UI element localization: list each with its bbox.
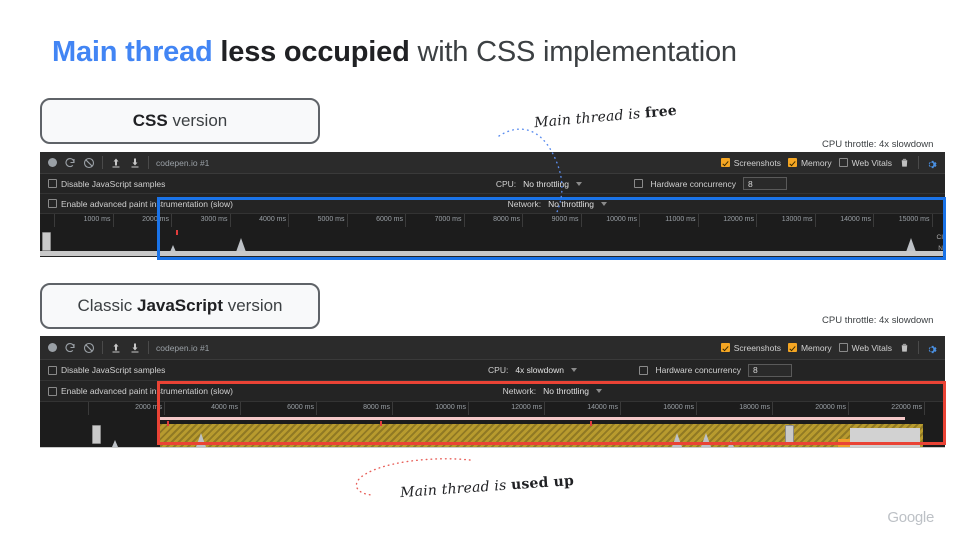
checkbox-screenshots-js[interactable]: Screenshots <box>721 343 781 353</box>
cpu-label-js: CPU: <box>488 365 508 375</box>
timeline-tick-label: 15000 ms <box>899 216 930 223</box>
reload-icon[interactable] <box>64 157 76 169</box>
checkbox-memory-css[interactable]: Memory <box>788 158 832 168</box>
checkbox-disable-js-samples-box[interactable] <box>48 366 57 375</box>
activity-spike <box>906 238 916 252</box>
checkbox-memory-box[interactable] <box>788 158 797 167</box>
devtools-settings-row-1-css: Disable JavaScript samples CPU: No throt… <box>40 174 945 194</box>
cpu-throttle-select-js[interactable]: 4x slowdown <box>515 365 564 375</box>
devtools-settings-row-2-js: Enable advanced paint instrumentation (s… <box>40 381 945 402</box>
checkbox-screenshots-box[interactable] <box>721 343 730 352</box>
checkbox-web-vitals-box[interactable] <box>839 158 848 167</box>
timeline-tick-label: 20000 ms <box>815 404 846 411</box>
clear-icon[interactable] <box>83 342 95 354</box>
activity-spike <box>672 433 682 447</box>
devtools-settings-row-1-js: Disable JavaScript samples CPU: 4x slowd… <box>40 360 945 381</box>
hardware-concurrency-label-js: Hardware concurrency <box>655 365 741 375</box>
chip-js-prefix: Classic <box>77 296 137 315</box>
annotation-text-free: Main thread is free <box>534 103 678 131</box>
timeline-tick-label: 11000 ms <box>665 216 695 223</box>
timeline-tick: 16000 ms <box>620 402 697 415</box>
timeline-overview-js[interactable]: 2000 ms4000 ms6000 ms8000 ms10000 ms1200… <box>40 402 945 448</box>
timeline-range-handle-left[interactable] <box>42 232 51 251</box>
timeline-tick-label: 9000 ms <box>552 216 579 223</box>
chevron-down-icon[interactable] <box>571 368 577 372</box>
timeline-tick: 13000 ms <box>756 214 816 227</box>
timeline-tick: 16 <box>932 214 946 227</box>
label-chip-js-version: Classic JavaScript version <box>40 283 320 329</box>
timeline-marker <box>167 421 169 426</box>
timeline-activity-js <box>40 417 945 448</box>
activity-spike <box>196 433 206 447</box>
timeline-tick: 14000 ms <box>815 214 875 227</box>
checkbox-screenshots-box[interactable] <box>721 158 730 167</box>
chevron-down-icon[interactable] <box>576 182 582 186</box>
cpu-throttle-note-js: CPU throttle: 4x slowdown <box>822 315 933 326</box>
devtools-toolbar-js: codepen.io #1 Screenshots Memory Web Vit… <box>40 336 945 360</box>
annotation-used-plain: Main thread is <box>400 477 512 501</box>
checkbox-hardware-concurrency-box-css[interactable] <box>634 179 643 188</box>
timeline-tick: 6000 ms <box>240 402 317 415</box>
devtools-toolbar-css: codepen.io #1 Screenshots Memory Web Vit… <box>40 152 945 174</box>
toolbar-divider <box>148 156 149 169</box>
timeline-tick: 4000 ms <box>164 402 241 415</box>
timeline-tick-label: 22000 ms <box>891 404 922 411</box>
checkbox-memory-label: Memory <box>801 158 832 168</box>
devtools-settings-row-2-css: Enable advanced paint instrumentation (s… <box>40 194 945 214</box>
checkbox-web-vitals-css[interactable]: Web Vitals <box>839 158 892 168</box>
chip-css-rest: version <box>168 111 228 130</box>
chevron-down-icon[interactable] <box>596 389 602 393</box>
timeline-tick-label: 6000 ms <box>376 216 403 223</box>
label-chip-css-version: CSS version <box>40 98 320 144</box>
timeline-scrollbar-js[interactable] <box>40 447 945 448</box>
timeline-tick: 20000 ms <box>772 402 849 415</box>
hardware-concurrency-input-js[interactable]: 8 <box>748 364 792 377</box>
cpu-edge-label: CI <box>937 234 944 241</box>
timeline-tick-label: 10000 ms <box>606 216 637 223</box>
annotation-free-plain: Main thread is <box>534 106 646 132</box>
network-request-band <box>160 417 905 420</box>
timeline-tick-label: 10000 ms <box>435 404 466 411</box>
timeline-tick: 7000 ms <box>405 214 465 227</box>
activity-block-grey <box>850 428 920 447</box>
cpu-label-css: CPU: <box>496 179 516 189</box>
timeline-tick: 2 <box>924 402 945 415</box>
cpu-throttle-select-css[interactable]: No throttling <box>523 179 569 189</box>
timeline-tick-label: 8000 ms <box>493 216 520 223</box>
hardware-concurrency-label-css: Hardware concurrency <box>650 179 736 189</box>
checkbox-disable-js-samples-css[interactable]: Disable JavaScript samples <box>48 179 165 189</box>
timeline-tick: 8000 ms <box>316 402 393 415</box>
timeline-tick-label: 6000 ms <box>287 404 314 411</box>
checkbox-advanced-paint-css[interactable]: Enable advanced paint instrumentation (s… <box>48 199 233 209</box>
record-icon[interactable] <box>48 343 57 352</box>
timeline-tick: 5000 ms <box>288 214 348 227</box>
chip-js-bold: JavaScript <box>137 296 223 315</box>
trash-icon[interactable] <box>899 157 911 169</box>
upload-icon[interactable] <box>110 157 122 169</box>
activity-spike <box>236 238 246 252</box>
page-title-part-2: less occupied <box>213 36 410 68</box>
reload-icon[interactable] <box>64 342 76 354</box>
timeline-tick: 10000 ms <box>581 214 641 227</box>
record-icon[interactable] <box>48 158 57 167</box>
timeline-tick-label: 12000 ms <box>511 404 542 411</box>
timeline-tick-label: 18000 ms <box>739 404 770 411</box>
checkbox-memory-label: Memory <box>801 343 832 353</box>
chip-js-rest: version <box>223 296 283 315</box>
timeline-tick-label: 1000 ms <box>84 216 111 223</box>
timeline-marker <box>590 421 592 426</box>
checkbox-screenshots-css[interactable]: Screenshots <box>721 158 781 168</box>
timeline-tick-label: 4000 ms <box>259 216 286 223</box>
hardware-concurrency-input-css[interactable]: 8 <box>743 177 787 190</box>
timeline-tick: 12000 ms <box>468 402 545 415</box>
toolbar-divider <box>102 341 103 354</box>
annotation-text-used-up: Main thread is used up <box>400 473 575 501</box>
checkbox-screenshots-label: Screenshots <box>734 343 781 353</box>
checkbox-web-vitals-js[interactable]: Web Vitals <box>839 343 892 353</box>
timeline-range-handle-left[interactable] <box>92 425 101 444</box>
chip-css-bold: CSS <box>133 111 168 130</box>
timeline-tick-label: 3000 ms <box>201 216 228 223</box>
download-icon[interactable] <box>129 342 141 354</box>
gear-icon[interactable] <box>926 342 937 353</box>
timeline-tick-label: 2000 ms <box>135 404 162 411</box>
checkbox-advanced-paint-box[interactable] <box>48 387 57 396</box>
activity-marker-orange <box>838 439 850 447</box>
timeline-tick-label: 7000 ms <box>435 216 462 223</box>
page-title-part-1: Main thread <box>52 36 213 68</box>
devtools-panel-css: codepen.io #1 Screenshots Memory Web Vit… <box>40 152 945 257</box>
timeline-tick: 1000 ms <box>54 214 114 227</box>
checkbox-memory-js[interactable]: Memory <box>788 343 832 353</box>
devtools-panel-js: codepen.io #1 Screenshots Memory Web Vit… <box>40 336 945 448</box>
toolbar-divider <box>148 341 149 354</box>
timeline-activity-css: CI N <box>40 229 945 256</box>
timeline-tick: 15000 ms <box>873 214 933 227</box>
timeline-overview-css[interactable]: 1000 ms2000 ms3000 ms4000 ms5000 ms6000 … <box>40 214 945 256</box>
timeline-range-handle-right[interactable] <box>785 425 794 444</box>
annotation-free-bold: free <box>644 103 677 122</box>
page-title: Main thread less occupied with CSS imple… <box>52 36 737 69</box>
timeline-tick-label: 13000 ms <box>782 216 813 223</box>
checkbox-memory-box[interactable] <box>788 343 797 352</box>
checkbox-web-vitals-label: Web Vitals <box>852 343 892 353</box>
download-icon[interactable] <box>129 157 141 169</box>
page-title-part-3: with CSS implementation <box>410 36 737 68</box>
trash-icon[interactable] <box>899 342 911 354</box>
clear-icon[interactable] <box>83 157 95 169</box>
activity-spike <box>728 440 734 447</box>
network-label-js: Network: <box>503 386 537 396</box>
checkbox-web-vitals-label: Web Vitals <box>852 158 892 168</box>
google-logo: Google <box>887 509 934 526</box>
timeline-ruler-js: 2000 ms4000 ms6000 ms8000 ms10000 ms1200… <box>40 402 945 415</box>
network-throttle-select-js[interactable]: No throttling <box>543 386 589 396</box>
timeline-tick: 14000 ms <box>544 402 621 415</box>
timeline-tick: 18000 ms <box>696 402 773 415</box>
checkbox-advanced-paint-label: Enable advanced paint instrumentation (s… <box>61 199 233 209</box>
network-label-css: Network: <box>508 199 542 209</box>
timeline-tick-label: 16000 ms <box>663 404 694 411</box>
timeline-tick: 12000 ms <box>698 214 758 227</box>
timeline-tick-label: 5000 ms <box>318 216 345 223</box>
timeline-tick: 8000 ms <box>464 214 524 227</box>
chevron-down-icon[interactable] <box>601 202 607 206</box>
checkbox-advanced-paint-js[interactable]: Enable advanced paint instrumentation (s… <box>48 386 233 396</box>
timeline-tick: 9000 ms <box>522 214 582 227</box>
activity-spike <box>112 440 118 447</box>
timeline-tick: 10000 ms <box>392 402 469 415</box>
network-throttle-select-css[interactable]: No throttling <box>548 199 594 209</box>
timeline-tick: 2000 ms <box>113 214 173 227</box>
timeline-tick: 6000 ms <box>347 214 407 227</box>
toolbar-divider <box>918 341 919 354</box>
profile-selector-label[interactable]: codepen.io #1 <box>156 343 209 353</box>
timeline-tick-label: 12000 ms <box>723 216 754 223</box>
timeline-scrollbar-css[interactable] <box>40 251 945 256</box>
checkbox-disable-js-samples-label: Disable JavaScript samples <box>61 365 165 375</box>
gear-icon[interactable] <box>926 157 937 168</box>
checkbox-disable-js-samples-box[interactable] <box>48 179 57 188</box>
checkbox-hardware-concurrency-box-js[interactable] <box>639 366 648 375</box>
timeline-marker <box>380 421 382 426</box>
timeline-tick-label: 14000 ms <box>840 216 871 223</box>
activity-spike <box>701 433 711 447</box>
toolbar-divider <box>918 156 919 169</box>
timeline-tick: 3000 ms <box>171 214 231 227</box>
cpu-throttle-note-css: CPU throttle: 4x slowdown <box>822 139 933 150</box>
timeline-tick-label: 2000 ms <box>142 216 169 223</box>
profile-selector-label[interactable]: codepen.io #1 <box>156 158 209 168</box>
timeline-tick: 22000 ms <box>848 402 925 415</box>
annotation-used-bold: used up <box>511 473 575 493</box>
checkbox-advanced-paint-label: Enable advanced paint instrumentation (s… <box>61 386 233 396</box>
checkbox-web-vitals-box[interactable] <box>839 343 848 352</box>
toolbar-divider <box>102 156 103 169</box>
timeline-tick: 2000 ms <box>88 402 165 415</box>
timeline-tick-label: 8000 ms <box>363 404 390 411</box>
timeline-ruler-css: 1000 ms2000 ms3000 ms4000 ms5000 ms6000 … <box>40 214 945 227</box>
checkbox-screenshots-label: Screenshots <box>734 158 781 168</box>
checkbox-advanced-paint-box[interactable] <box>48 199 57 208</box>
timeline-tick: 11000 ms <box>639 214 699 227</box>
slide-root: Main thread less occupied with CSS imple… <box>0 0 960 540</box>
timeline-tick-label: 4000 ms <box>211 404 238 411</box>
checkbox-disable-js-samples-label: Disable JavaScript samples <box>61 179 165 189</box>
checkbox-disable-js-samples-js[interactable]: Disable JavaScript samples <box>48 365 165 375</box>
cpu-busy-hatch-band <box>160 424 923 447</box>
timeline-tick: 4000 ms <box>230 214 290 227</box>
timeline-marker <box>176 230 178 235</box>
timeline-tick-label: 14000 ms <box>587 404 618 411</box>
upload-icon[interactable] <box>110 342 122 354</box>
